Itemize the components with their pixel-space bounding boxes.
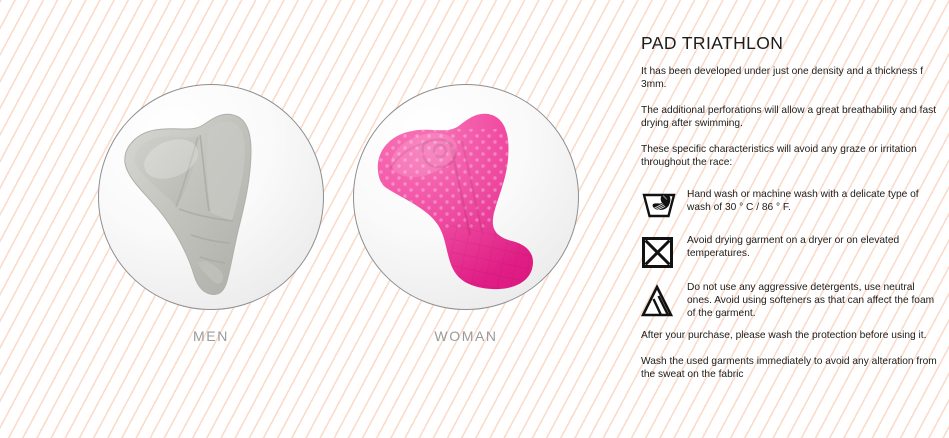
care-text-no-aggressive-detergent: Do not use any aggressive detergents, us… [687, 280, 941, 320]
intro-paragraph-1: It has been developed under just one den… [641, 65, 941, 91]
product-label-woman: WOMAN [350, 328, 582, 344]
intro-paragraph-3: These specific characteristics will avoi… [641, 143, 941, 169]
closing-paragraphs: After your purchase, please wash the pro… [641, 329, 941, 381]
circle-backdrop-woman [353, 84, 579, 310]
care-text-no-tumble-dry: Avoid drying garment on a dryer or on el… [687, 231, 941, 260]
intro-paragraph-2: The additional perforations will allow a… [641, 104, 941, 130]
page-root: MEN [0, 0, 949, 438]
care-instruction-list: Hand wash or machine wash with a delicat… [641, 182, 941, 320]
pad-men-illustration [99, 85, 324, 310]
page-title: PAD TRIATHLON [641, 33, 941, 54]
product-card-woman: WOMAN [350, 84, 582, 344]
product-card-men: MEN [95, 84, 327, 344]
care-item-no-tumble-dry: Avoid drying garment on a dryer or on el… [641, 231, 941, 271]
product-label-men: MEN [95, 328, 327, 344]
care-item-hand-wash: Hand wash or machine wash with a delicat… [641, 182, 941, 222]
hand-wash-icon [641, 182, 687, 222]
closing-paragraph-1: After your purchase, please wash the pro… [641, 329, 941, 342]
care-text-hand-wash: Hand wash or machine wash with a delicat… [687, 182, 941, 214]
care-item-no-aggressive-detergent: Do not use any aggressive detergents, us… [641, 280, 941, 320]
product-circle-men [98, 84, 324, 310]
closing-paragraph-2: Wash the used garments immediately to av… [641, 355, 941, 381]
non-chlorine-bleach-icon [641, 280, 687, 320]
pad-woman-illustration [354, 85, 579, 310]
product-circle-woman [353, 84, 579, 310]
do-not-tumble-dry-icon [641, 231, 687, 271]
circle-backdrop-men [98, 84, 324, 310]
info-panel: PAD TRIATHLON It has been developed unde… [641, 33, 941, 381]
